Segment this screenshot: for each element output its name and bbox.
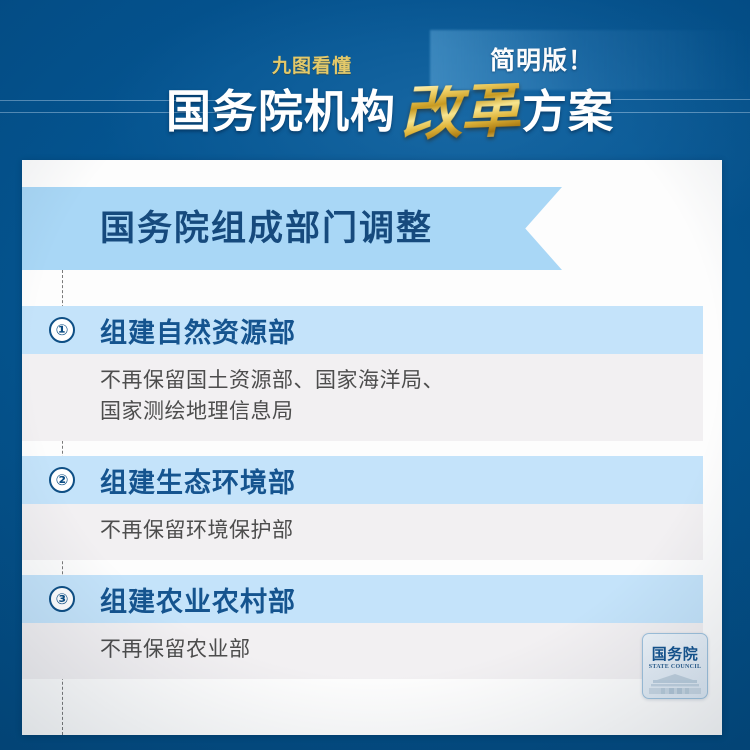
state-council-seal: 国务院 STATE COUNCIL: [642, 633, 708, 699]
content-card: 国务院组成部门调整 ① 组建自然资源部 不再保留国土资源部、国家海洋局、 国家测…: [22, 160, 722, 735]
list-item-title: 组建农业农村部: [100, 580, 296, 619]
list-item-description: 不再保留国土资源部、国家海洋局、 国家测绘地理信息局: [100, 365, 703, 427]
list-item-title: 组建生态环境部: [100, 461, 296, 500]
header-kicker: 九图看懂: [272, 51, 352, 78]
poster-header: 九图看懂 简明版！ 国务院机构 改革 方案: [0, 0, 750, 150]
page-title-gold-word: 改革: [399, 83, 521, 142]
list-item-header: ① 组建自然资源部: [22, 306, 703, 354]
circled-number-icon: ③: [49, 586, 75, 612]
infographic-poster: 九图看懂 简明版！ 国务院机构 改革 方案 国务院组成部门调整 ① 组建自然资源…: [0, 0, 750, 750]
tiananmen-building-icon: [647, 666, 703, 696]
list-item-description: 不再保留农业部: [100, 634, 703, 665]
list-item-body: 不再保留环境保护部: [22, 504, 703, 560]
seal-chinese-label: 国务院: [643, 647, 707, 662]
list-item[interactable]: ① 组建自然资源部 不再保留国土资源部、国家海洋局、 国家测绘地理信息局: [22, 306, 703, 441]
page-title-part-two: 方案: [522, 89, 614, 134]
list-item[interactable]: ② 组建生态环境部 不再保留环境保护部: [22, 456, 703, 560]
list-item-header: ③ 组建农业农村部: [22, 575, 703, 623]
section-ribbon-label: 国务院组成部门调整: [100, 209, 433, 249]
list-item-header: ② 组建生态环境部: [22, 456, 703, 504]
list-item-description: 不再保留环境保护部: [100, 515, 703, 546]
page-title-part-one: 国务院机构: [166, 89, 396, 134]
list-item-body: 不再保留农业部: [22, 623, 703, 679]
circled-number-icon: ①: [49, 317, 75, 343]
edition-badge: 简明版！: [490, 41, 594, 77]
page-title: 国务院机构 改革 方案: [166, 79, 614, 134]
seal-english-label: STATE COUNCIL: [643, 664, 707, 670]
list-item[interactable]: ③ 组建农业农村部 不再保留农业部: [22, 575, 703, 679]
list-item-title: 组建自然资源部: [100, 311, 296, 350]
circled-number-icon: ②: [49, 467, 75, 493]
list-item-body: 不再保留国土资源部、国家海洋局、 国家测绘地理信息局: [22, 354, 703, 441]
